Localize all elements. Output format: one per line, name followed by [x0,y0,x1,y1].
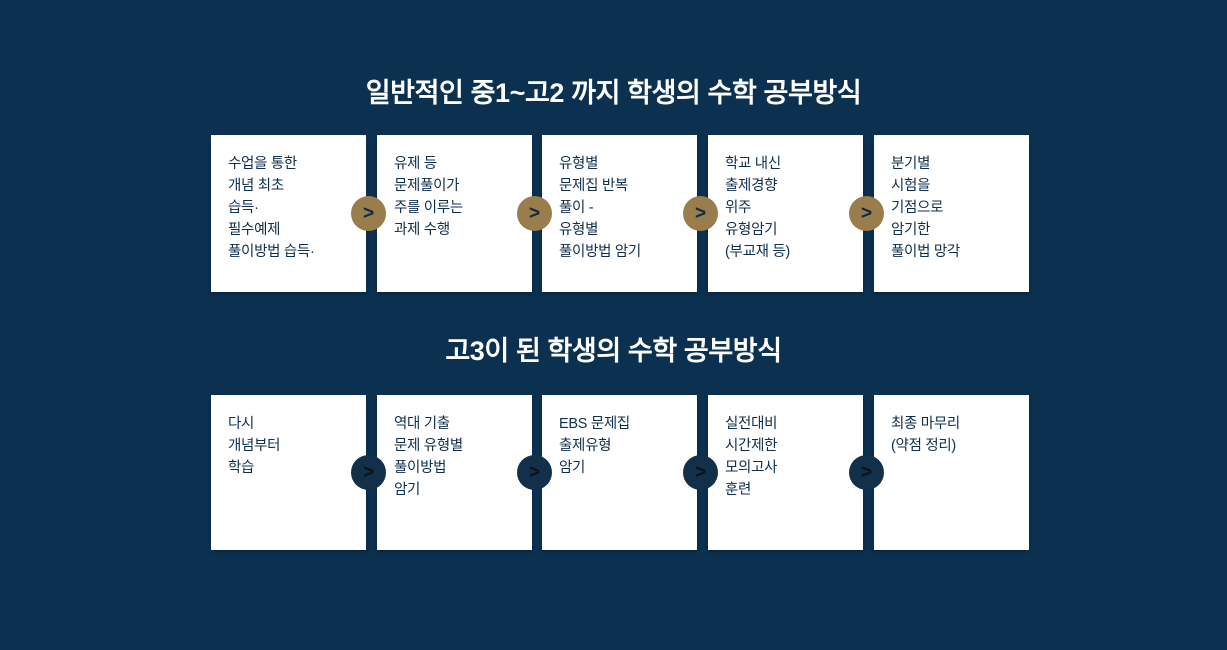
flow-row-top: 수업을 통한 개념 최초 습득· 필수예제 풀이방법 습득· > 유제 등 문제… [211,135,1031,292]
step-box-bottom-2[interactable]: 역대 기출 문제 유형별 풀이방법 암기 [377,395,532,550]
step-box-bottom-3[interactable]: EBS 문제집 출제유형 암기 [542,395,697,550]
step-box-bottom-4[interactable]: 실전대비 시간제한 모의고사 훈련 [708,395,863,550]
step-box-top-5[interactable]: 분기별 시험을 기점으로 암기한 풀이법 망각 [874,135,1029,292]
step-text-top-1: 수업을 통한 개념 최초 습득· 필수예제 풀이방법 습득· [228,153,366,263]
step-box-top-1[interactable]: 수업을 통한 개념 최초 습득· 필수예제 풀이방법 습득· [211,135,366,292]
step-text-bottom-2: 역대 기출 문제 유형별 풀이방법 암기 [394,413,532,501]
arrow-icon-top-1: > [351,196,386,231]
arrow-icon-top-3: > [683,196,718,231]
arrow-icon-top-4: > [849,196,884,231]
step-box-bottom-1[interactable]: 다시 개념부터 학습 [211,395,366,550]
section-title-top: 일반적인 중1~고2 까지 학생의 수학 공부방식 [0,80,1227,107]
arrow-icon-bottom-1: > [351,455,386,490]
arrow-icon-top-2: > [517,196,552,231]
flow-row-bottom: 다시 개념부터 학습 > 역대 기출 문제 유형별 풀이방법 암기 > EBS … [211,395,1031,550]
slide-canvas: 일반적인 중1~고2 까지 학생의 수학 공부방식 수업을 통한 개념 최초 습… [0,0,1227,650]
step-box-bottom-5[interactable]: 최종 마무리 (약점 정리) [874,395,1029,550]
section-title-bottom: 고3이 된 학생의 수학 공부방식 [0,338,1227,365]
step-text-top-5: 분기별 시험을 기점으로 암기한 풀이법 망각 [891,153,1029,263]
arrow-icon-bottom-4: > [849,455,884,490]
step-text-bottom-5: 최종 마무리 (약점 정리) [891,413,1029,457]
arrow-icon-bottom-2: > [517,455,552,490]
step-text-bottom-1: 다시 개념부터 학습 [228,413,366,479]
step-box-top-3[interactable]: 유형별 문제집 반복 풀이 - 유형별 풀이방법 암기 [542,135,697,292]
step-text-top-2: 유제 등 문제풀이가 주를 이루는 과제 수행 [394,153,532,241]
step-text-top-3: 유형별 문제집 반복 풀이 - 유형별 풀이방법 암기 [559,153,697,263]
step-text-top-4: 학교 내신 출제경향 위주 유형암기 (부교재 등) [725,153,863,263]
step-box-top-2[interactable]: 유제 등 문제풀이가 주를 이루는 과제 수행 [377,135,532,292]
arrow-icon-bottom-3: > [683,455,718,490]
step-text-bottom-4: 실전대비 시간제한 모의고사 훈련 [725,413,863,501]
step-text-bottom-3: EBS 문제집 출제유형 암기 [559,413,697,479]
step-box-top-4[interactable]: 학교 내신 출제경향 위주 유형암기 (부교재 등) [708,135,863,292]
